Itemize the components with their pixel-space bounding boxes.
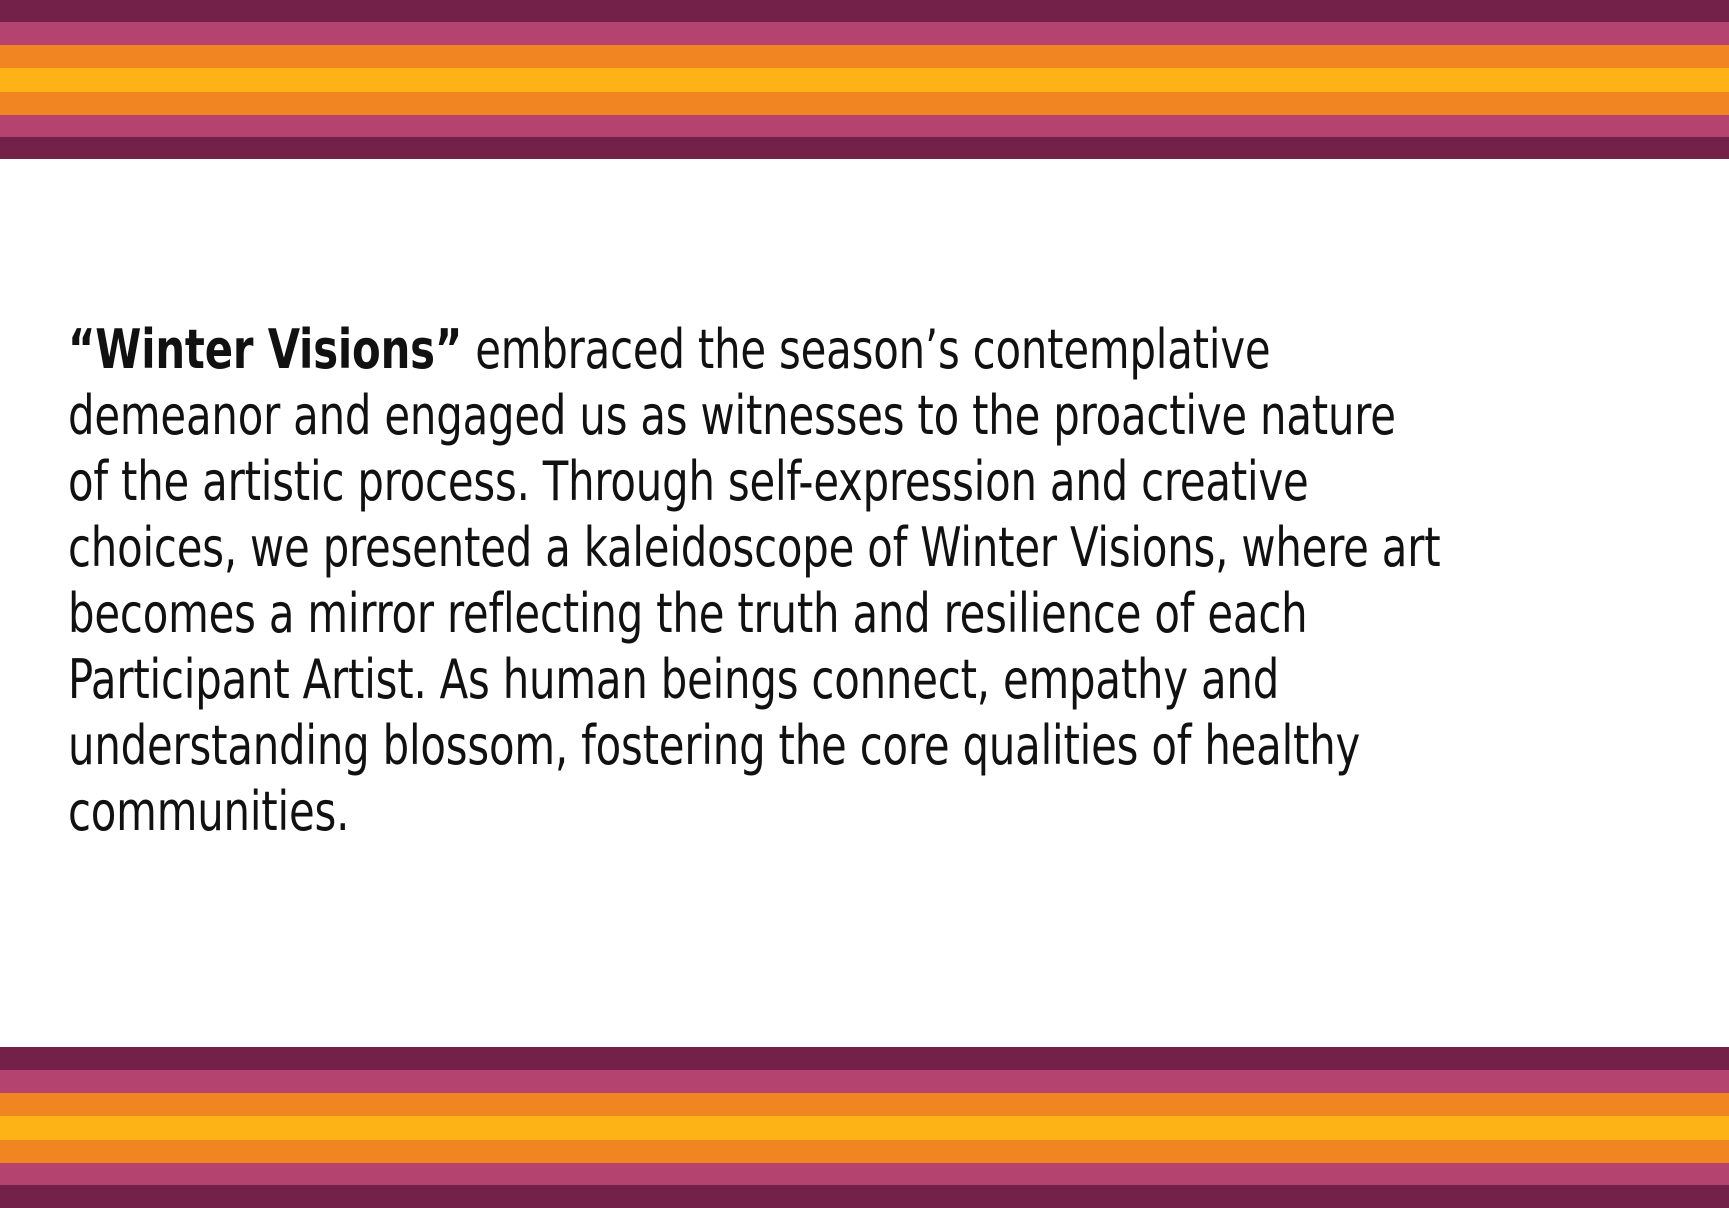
bottom-stripe-band (0, 1047, 1729, 1208)
content-area: “Winter Visions” embraced the season’s c… (0, 159, 1729, 1047)
slide-page: “Winter Visions” embraced the season’s c… (0, 0, 1729, 1208)
body-paragraph: “Winter Visions” embraced the season’s c… (68, 317, 1444, 845)
stripe-bottom-6-pink (0, 1163, 1729, 1185)
lead-in-phrase: “Winter Visions” (68, 318, 462, 381)
top-stripe-band (0, 0, 1729, 159)
stripe-bottom-3-orange (0, 1093, 1729, 1116)
stripe-top-5-orange (0, 92, 1729, 115)
stripe-bottom-5-orange (0, 1140, 1729, 1163)
stripe-top-6-pink (0, 115, 1729, 137)
stripe-top-3-orange (0, 45, 1729, 68)
stripe-bottom-7-maroon (0, 1185, 1729, 1208)
body-text: embraced the season’s contemplative deme… (68, 318, 1440, 843)
stripe-bottom-1-maroon (0, 1047, 1729, 1070)
stripe-top-4-amber (0, 68, 1729, 92)
stripe-bottom-2-pink (0, 1070, 1729, 1093)
stripe-bottom-4-amber (0, 1116, 1729, 1140)
stripe-top-2-pink (0, 22, 1729, 45)
stripe-top-1-maroon (0, 0, 1729, 22)
stripe-top-7-maroon (0, 137, 1729, 159)
